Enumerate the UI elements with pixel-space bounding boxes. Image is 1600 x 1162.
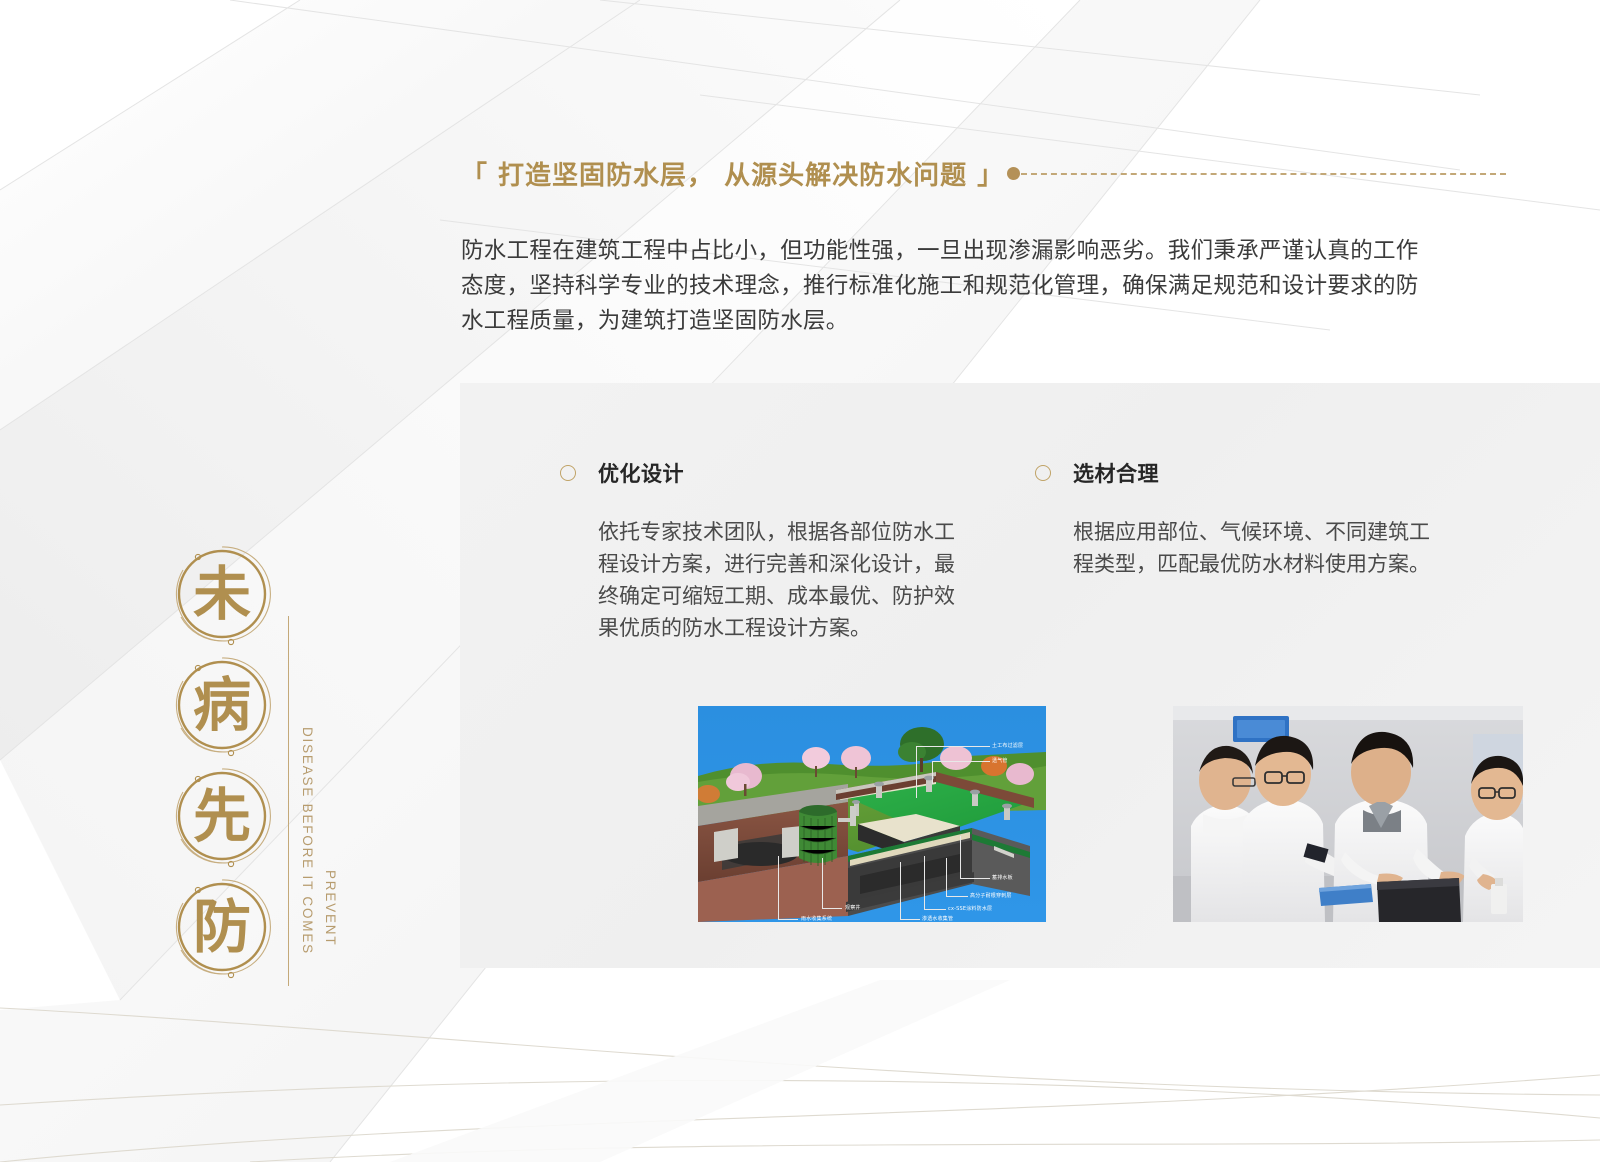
brand-divider <box>288 616 289 986</box>
leader-line <box>778 919 798 920</box>
leader-line <box>956 746 990 747</box>
team-photo-image <box>1173 706 1523 922</box>
leader-line <box>916 746 956 747</box>
leader-line <box>900 862 901 919</box>
leader-line <box>932 761 933 784</box>
leader-line <box>924 856 925 909</box>
page-title-text: 「 打造坚固防水层， 从源头解决防水问题 」 <box>461 155 1004 192</box>
diagram-label: 雨水收集系统 <box>801 915 832 922</box>
brand-badge-char: 先 <box>168 762 276 870</box>
brand-badge-column: 未 病 先 防 DISEASE BEFORE <box>160 540 360 980</box>
photo-svg <box>1173 706 1523 922</box>
leader-line <box>932 761 990 762</box>
diagram-label: 土工布过滤层 <box>992 742 1023 749</box>
brand-tagline-main: DISEASE BEFORE IT COMES <box>300 727 315 955</box>
diagram-svg <box>698 706 1046 922</box>
intro-paragraph: 防水工程在建筑工程中占比小，但功能性强，一旦出现渗漏影响恶劣。我们秉承严谨认真的… <box>461 234 1436 339</box>
diagram-label: 蓄排水板 <box>992 874 1013 881</box>
leader-line <box>778 856 779 919</box>
figure-team-photo <box>1173 706 1523 922</box>
column-heading-text: 优化设计 <box>598 458 684 488</box>
diagram-label: 观察井 <box>845 904 861 911</box>
leader-line <box>924 909 946 910</box>
brand-badge-char: 病 <box>168 651 276 759</box>
column-heading: 优化设计 <box>560 458 684 488</box>
bullet-circle-icon <box>560 465 576 481</box>
leader-line <box>900 919 920 920</box>
waterproof-diagram-image: 土工布过滤层 透气管 蓄排水板 高分子耐根穿刺层 cx-SSE涂料防水层 渗透水… <box>698 706 1046 922</box>
diagram-label: 高分子耐根穿刺层 <box>970 892 1012 899</box>
leader-line <box>822 908 842 909</box>
figure-waterproof-diagram: 土工布过滤层 透气管 蓄排水板 高分子耐根穿刺层 cx-SSE涂料防水层 渗透水… <box>698 706 1048 922</box>
leader-line <box>822 858 823 908</box>
leader-line <box>960 836 961 878</box>
title-dot-icon <box>1007 167 1020 180</box>
column-heading: 选材合理 <box>1035 458 1159 488</box>
diagram-label: cx-SSE涂料防水层 <box>948 905 992 912</box>
brand-badge-char: 未 <box>168 540 276 648</box>
brand-badge-1: 未 <box>168 540 276 648</box>
content-panel: 优化设计 依托专家技术团队，根据各部位防水工程设计方案，进行完善和深化设计，最终… <box>460 383 1600 968</box>
brand-badge-2: 病 <box>168 651 276 759</box>
title-dashed-rule <box>1021 173 1506 175</box>
leader-line <box>946 858 947 896</box>
bullet-circle-icon <box>1035 465 1051 481</box>
column-description: 根据应用部位、气候环境、不同建筑工程类型，匹配最优防水材料使用方案。 <box>1073 516 1441 580</box>
brand-tagline-sub: PREVENT <box>323 870 338 946</box>
brand-badge-char: 防 <box>168 873 276 981</box>
column-description: 依托专家技术团队，根据各部位防水工程设计方案，进行完善和深化设计，最终确定可缩短… <box>598 516 966 644</box>
leader-line <box>946 896 968 897</box>
column-heading-text: 选材合理 <box>1073 458 1159 488</box>
diagram-label: 渗透水收集管 <box>922 915 953 922</box>
diagram-label: 透气管 <box>992 757 1008 764</box>
page-title: 「 打造坚固防水层， 从源头解决防水问题 」 <box>461 155 1506 192</box>
leader-line <box>960 878 990 879</box>
leader-line <box>916 746 917 798</box>
brand-badge-3: 先 <box>168 762 276 870</box>
brand-badge-4: 防 <box>168 873 276 981</box>
